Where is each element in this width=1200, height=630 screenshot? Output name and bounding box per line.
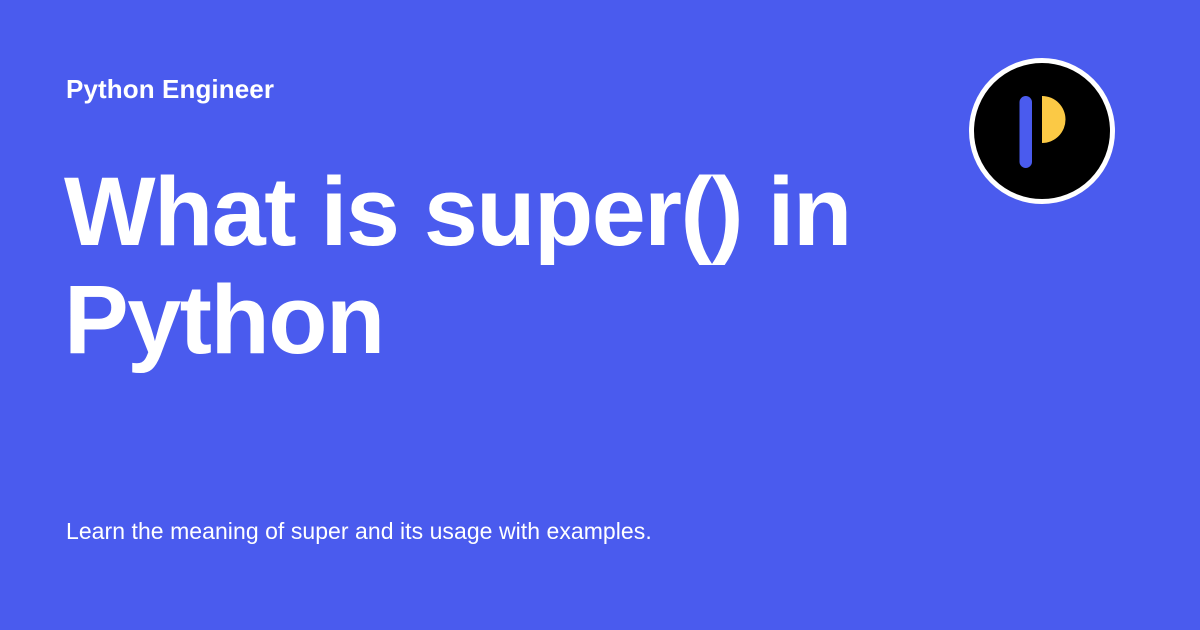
logo-bar-shape [1020, 96, 1033, 168]
python-engineer-logo [969, 58, 1115, 204]
page-title: What is super() in Python [64, 158, 874, 374]
page-subtitle: Learn the meaning of super and its usage… [66, 516, 966, 546]
brand-label: Python Engineer [66, 72, 274, 106]
social-card: Python Engineer What is super() in Pytho… [0, 0, 1200, 630]
